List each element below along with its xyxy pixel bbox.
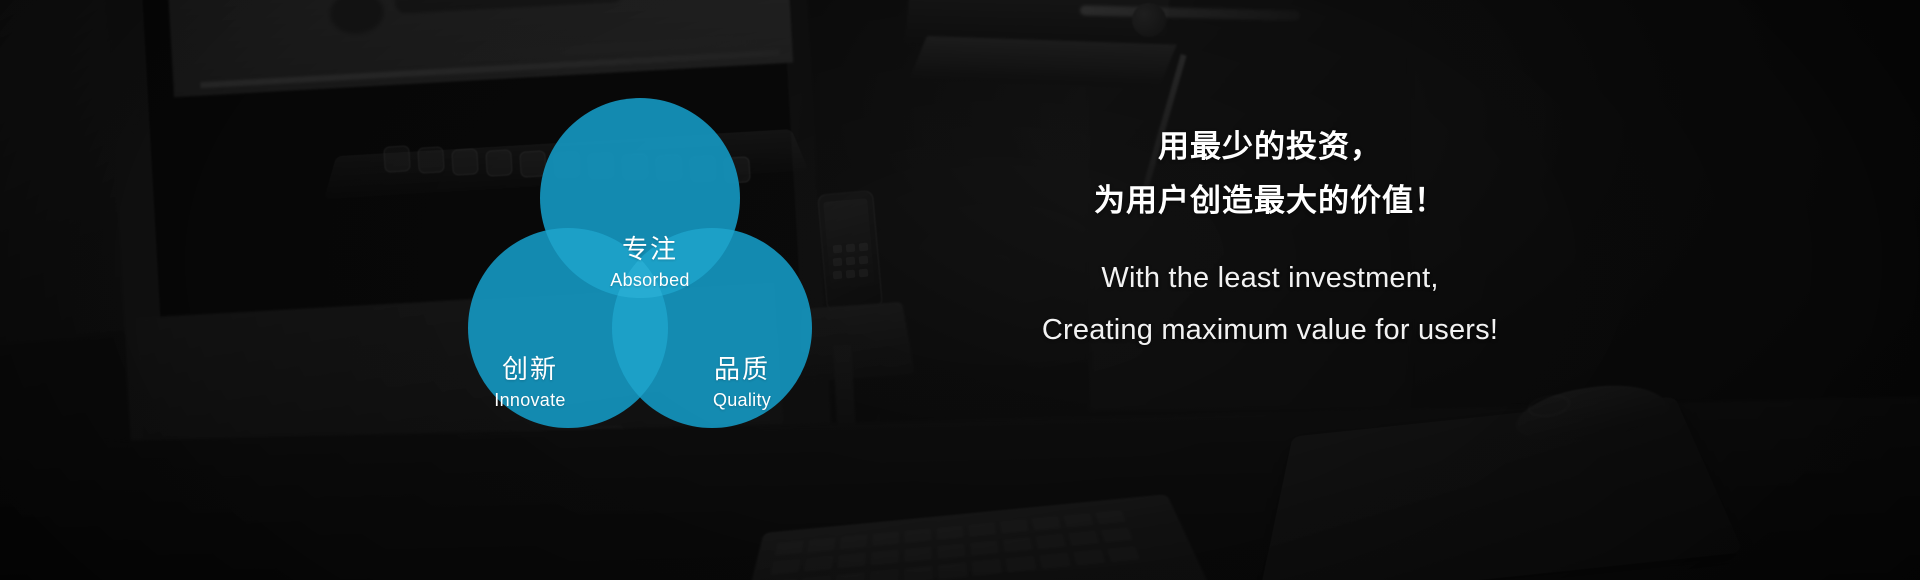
venn-label-absorbed: 专注 Absorbed bbox=[570, 236, 730, 289]
venn-label-absorbed-cn: 专注 bbox=[570, 236, 730, 262]
slogan-cn-line-2: 为用户创造最大的价值！ bbox=[820, 174, 1720, 228]
venn-label-innovate-cn: 创新 bbox=[450, 356, 610, 382]
slogan-en-line-1: With the least investment, bbox=[820, 252, 1720, 304]
venn-label-quality-cn: 品质 bbox=[662, 356, 822, 382]
slogan-cn-line-1: 用最少的投资， bbox=[820, 120, 1720, 174]
venn-label-innovate-en: Innovate bbox=[450, 391, 610, 409]
slogan-en-line-2: Creating maximum value for users! bbox=[820, 304, 1720, 356]
slogan-spacer bbox=[820, 228, 1720, 252]
venn-diagram: 专注 Absorbed 创新 Innovate 品质 Quality bbox=[440, 88, 840, 448]
venn-label-quality-en: Quality bbox=[662, 391, 822, 409]
venn-label-innovate: 创新 Innovate bbox=[450, 356, 610, 409]
slogan-block: 用最少的投资， 为用户创造最大的价值！ With the least inves… bbox=[820, 120, 1720, 356]
hero-banner: 专注 Absorbed 创新 Innovate 品质 Quality 用最少的投… bbox=[0, 0, 1920, 580]
venn-label-absorbed-en: Absorbed bbox=[570, 271, 730, 289]
venn-label-quality: 品质 Quality bbox=[662, 356, 822, 409]
